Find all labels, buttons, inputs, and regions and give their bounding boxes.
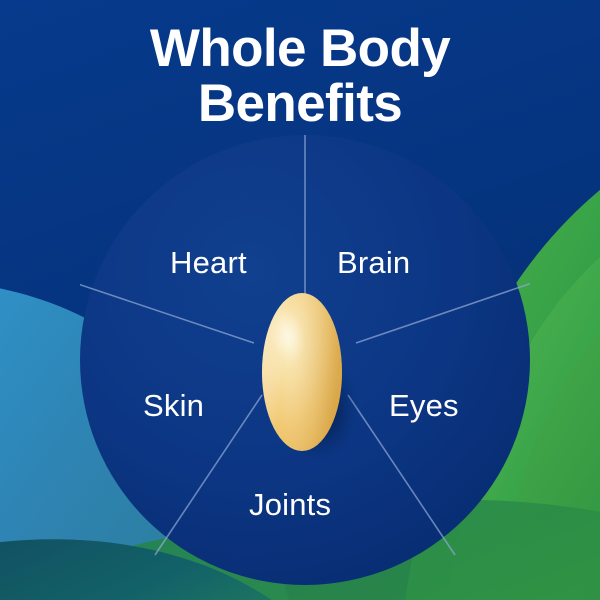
benefit-label-heart: Heart — [170, 247, 247, 278]
benefit-label-joints: Joints — [249, 489, 331, 520]
softgel-capsule-svg — [258, 288, 358, 463]
benefit-label-brain: Brain — [337, 247, 410, 278]
page-title: Whole Body Benefits — [0, 22, 600, 131]
benefit-label-eyes: Eyes — [389, 390, 459, 421]
title-line-2: Benefits — [0, 77, 600, 132]
infographic-canvas: Whole Body Benefits — [0, 0, 600, 600]
softgel-capsule — [258, 288, 358, 463]
benefit-label-skin: Skin — [143, 390, 204, 421]
title-line-1: Whole Body — [0, 22, 600, 77]
